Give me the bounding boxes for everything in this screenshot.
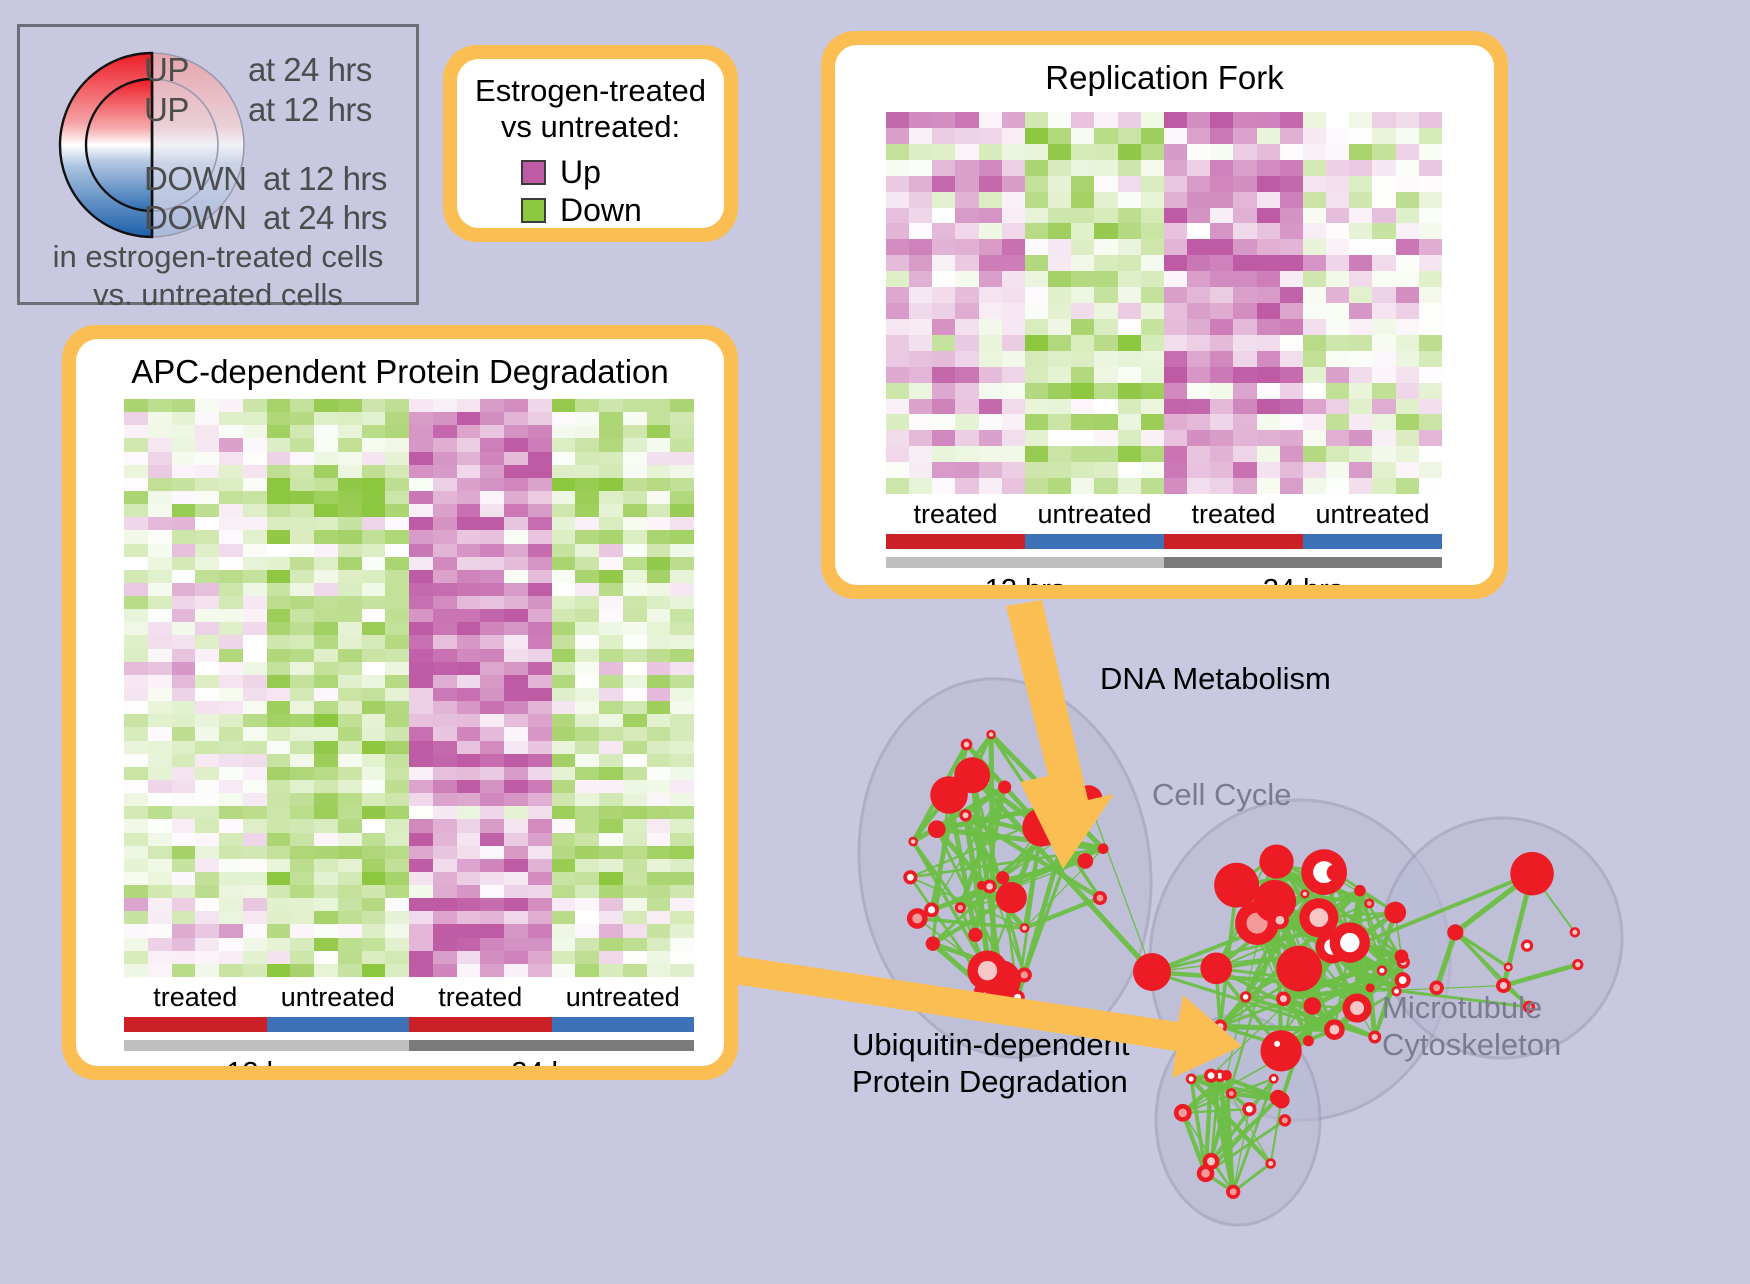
network-node — [1327, 864, 1344, 881]
heatmap-cell — [979, 160, 1002, 176]
heatmap-cell — [362, 504, 386, 517]
heatmap-cell — [1257, 223, 1280, 239]
heatmap-cell — [575, 622, 599, 635]
heatmap-cell — [623, 951, 647, 964]
heatmap-cell — [338, 714, 362, 727]
heatmap-cell — [1025, 430, 1048, 446]
heatmap-cell — [1233, 446, 1256, 462]
heatmap-cell — [1141, 192, 1164, 208]
heatmap-cell — [1187, 223, 1210, 239]
heatmap-cell — [290, 767, 314, 780]
heatmap-cell — [886, 255, 909, 271]
heatmap-cell — [575, 649, 599, 662]
heatmap-cell — [1210, 239, 1233, 255]
heatmap-cell — [290, 754, 314, 767]
heatmap-cell — [172, 649, 196, 662]
heatmap-cell — [1396, 351, 1419, 367]
heatmap-cell — [314, 688, 338, 701]
heatmap-cell — [575, 741, 599, 754]
heatmap-cell — [433, 438, 457, 451]
heatmap-cell — [955, 462, 978, 478]
heatmap-cell — [290, 557, 314, 570]
heatmap-cell — [195, 714, 219, 727]
heatmap-cell — [932, 399, 955, 415]
heatmap-cell — [599, 649, 623, 662]
heatmap-cell — [433, 898, 457, 911]
heatmap-cell — [1094, 367, 1117, 383]
heatmap-cell — [1048, 462, 1071, 478]
heatmap-cell — [172, 438, 196, 451]
heatmap-cell — [148, 806, 172, 819]
heatmap-cell — [480, 793, 504, 806]
heatmap-cell — [1210, 462, 1233, 478]
heatmap-cell — [528, 833, 552, 846]
network-node-core — [1229, 1091, 1234, 1096]
replication-fork-axis: treated untreated treated untreated 12 h — [886, 499, 1442, 585]
heatmap-cell — [409, 793, 433, 806]
heatmap-cell — [1071, 208, 1094, 224]
heatmap-cell — [909, 192, 932, 208]
heatmap-cell — [172, 491, 196, 504]
heatmap-cell — [338, 557, 362, 570]
heatmap-cell — [457, 675, 481, 688]
network-node-core — [1329, 1025, 1339, 1035]
heatmap-cell — [504, 478, 528, 491]
heatmap-cell — [1349, 319, 1372, 335]
heatmap-cell — [1396, 128, 1419, 144]
heatmap-cell — [670, 754, 694, 767]
heatmap-cell — [314, 596, 338, 609]
heatmap-cell — [1187, 399, 1210, 415]
heatmap-cell — [195, 833, 219, 846]
heatmap-cell — [267, 438, 291, 451]
heatmap-cell — [195, 530, 219, 543]
heatmap-cell — [409, 438, 433, 451]
heatmap-cell — [599, 478, 623, 491]
heatmap-cell — [480, 504, 504, 517]
heatmap-cell — [148, 662, 172, 675]
heatmap-cell — [362, 833, 386, 846]
heatmap-cell — [552, 688, 576, 701]
heatmap-cell — [219, 754, 243, 767]
heatmap-cell — [647, 741, 671, 754]
heatmap-cell — [172, 609, 196, 622]
heatmap-cell — [267, 544, 291, 557]
heatmap-cell — [409, 819, 433, 832]
heatmap-cell — [1326, 478, 1349, 494]
heatmap-cell — [338, 596, 362, 609]
heatmap-cell — [599, 530, 623, 543]
heatmap-cell — [909, 462, 932, 478]
heatmap-cell — [670, 833, 694, 846]
heatmap-cell — [433, 504, 457, 517]
heatmap-cell — [528, 911, 552, 924]
network-node-core — [1189, 1076, 1194, 1081]
heatmap-cell — [1257, 271, 1280, 287]
heatmap-cell — [623, 504, 647, 517]
heatmap-cell — [1396, 223, 1419, 239]
network-node-core — [1399, 976, 1407, 984]
heatmap-cell — [670, 701, 694, 714]
heatmap-cell — [1349, 446, 1372, 462]
heatmap-cell — [1141, 383, 1164, 399]
heatmap-cell — [433, 911, 457, 924]
heatmap-cell — [409, 911, 433, 924]
heatmap-cell — [409, 452, 433, 465]
network-graph — [800, 620, 1750, 1279]
heatmap-cell — [1002, 430, 1025, 446]
heatmap-cell — [1141, 319, 1164, 335]
heatmap-cell — [599, 544, 623, 557]
heatmap-cell — [267, 649, 291, 662]
heatmap-cell — [1002, 399, 1025, 415]
heatmap-cell — [504, 938, 528, 951]
heatmap-cell — [1141, 446, 1164, 462]
heatmap-cell — [1326, 271, 1349, 287]
heatmap-cell — [195, 767, 219, 780]
heatmap-cell — [1372, 112, 1395, 128]
heatmap-cell — [528, 530, 552, 543]
heatmap-cell — [172, 898, 196, 911]
heatmap-cell — [385, 530, 409, 543]
heatmap-cell — [267, 662, 291, 675]
heatmap-cell — [409, 530, 433, 543]
heatmap-cell — [909, 271, 932, 287]
network-node-core — [1268, 1161, 1273, 1166]
heatmap-cell — [385, 544, 409, 557]
heatmap-cell — [599, 964, 623, 977]
network-node-core — [1230, 1188, 1237, 1195]
heatmap-cell — [647, 924, 671, 937]
heatmap-cell — [955, 192, 978, 208]
heatmap-cell — [1164, 144, 1187, 160]
heatmap-cell — [314, 793, 338, 806]
heatmap-cell — [979, 208, 1002, 224]
heatmap-cell — [932, 478, 955, 494]
heatmap-cell — [195, 793, 219, 806]
heatmap-cell — [599, 399, 623, 412]
network-node — [928, 820, 946, 838]
heatmap-cell — [314, 530, 338, 543]
heatmap-cell — [1002, 255, 1025, 271]
heatmap-cell — [528, 872, 552, 885]
heatmap-cell — [1094, 287, 1117, 303]
heatmap-cell — [1025, 192, 1048, 208]
heatmap-cell — [552, 898, 576, 911]
heatmap-cell — [148, 675, 172, 688]
heatmap-cell — [1118, 176, 1141, 192]
colorwheel-term-down-12: DOWN — [144, 160, 246, 198]
network-node-core — [928, 906, 935, 913]
heatmap-cell — [480, 649, 504, 662]
heatmap-cell — [195, 596, 219, 609]
heatmap-cell — [528, 859, 552, 872]
heatmap-cell — [647, 793, 671, 806]
heatmap-cell — [124, 872, 148, 885]
heatmap-cell — [1349, 287, 1372, 303]
heatmap-cell — [1419, 144, 1442, 160]
heatmap-cell — [124, 688, 148, 701]
heatmap-cell — [385, 924, 409, 937]
heatmap-cell — [1303, 192, 1326, 208]
heatmap-cell — [647, 833, 671, 846]
heatmap-cell — [1349, 255, 1372, 271]
heatmap-cell — [124, 570, 148, 583]
heatmap-cell — [1164, 192, 1187, 208]
heatmap-cell — [1094, 430, 1117, 446]
heatmap-cell — [480, 938, 504, 951]
heatmap-cell — [1164, 319, 1187, 335]
heatmap-cell — [670, 412, 694, 425]
heatmap-cell — [243, 517, 267, 530]
heatmap-cell — [1303, 367, 1326, 383]
network-node — [1259, 844, 1293, 878]
heatmap-cell — [1326, 383, 1349, 399]
heatmap-cell — [338, 675, 362, 688]
heatmap-cell — [1118, 192, 1141, 208]
heatmap-cell — [552, 727, 576, 740]
heatmap-cell — [575, 859, 599, 872]
heatmap-cell — [647, 530, 671, 543]
heatmap-cell — [385, 622, 409, 635]
heatmap-cell — [599, 819, 623, 832]
heatmap-cell — [480, 819, 504, 832]
rf-group-bar-2 — [1164, 534, 1303, 549]
heatmap-cell — [932, 239, 955, 255]
heatmap-cell — [338, 741, 362, 754]
heatmap-cell — [1303, 462, 1326, 478]
heatmap-cell — [1164, 287, 1187, 303]
network-node-core — [1207, 1157, 1215, 1165]
heatmap-cell — [1233, 399, 1256, 415]
heatmap-cell — [409, 833, 433, 846]
heatmap-cell — [1396, 478, 1419, 494]
heatmap-cell — [267, 465, 291, 478]
heatmap-cell — [504, 544, 528, 557]
heatmap-cell — [1002, 383, 1025, 399]
heatmap-cell — [1187, 128, 1210, 144]
heatmap-cell — [1141, 239, 1164, 255]
colorwheel-term-up-24: UP — [144, 51, 189, 89]
heatmap-cell — [623, 583, 647, 596]
heatmap-cell — [599, 767, 623, 780]
heatmap-cell — [1396, 271, 1419, 287]
heatmap-cell — [1233, 462, 1256, 478]
heatmap-cell — [1233, 176, 1256, 192]
heatmap-cell — [314, 491, 338, 504]
heatmap-cell — [1187, 430, 1210, 446]
heatmap-cell — [886, 223, 909, 239]
heatmap-cell — [362, 872, 386, 885]
pathway-network-diagram: DNA Metabolism Cell Cycle Microtubule Cy… — [800, 620, 1750, 1279]
heatmap-cell — [290, 688, 314, 701]
heatmap-cell — [243, 688, 267, 701]
heatmap-cell — [243, 846, 267, 859]
heatmap-cell — [314, 714, 338, 727]
apc-time-bar — [124, 1040, 694, 1051]
heatmap-cell — [124, 767, 148, 780]
heatmap-cell — [172, 924, 196, 937]
heatmap-cell — [457, 793, 481, 806]
heatmap-cell — [1372, 319, 1395, 335]
heatmap-cell — [219, 399, 243, 412]
heatmap-cell — [409, 741, 433, 754]
heatmap-cell — [314, 846, 338, 859]
heatmap-cell — [1187, 176, 1210, 192]
heatmap-cell — [195, 872, 219, 885]
heatmap-cell — [1372, 271, 1395, 287]
heatmap-cell — [1280, 446, 1303, 462]
heatmap-cell — [979, 128, 1002, 144]
network-node-core — [986, 883, 993, 890]
heatmap-cell — [1372, 351, 1395, 367]
heatmap-cell — [979, 239, 1002, 255]
heatmap-cell — [1071, 383, 1094, 399]
heatmap-cell — [1303, 319, 1326, 335]
heatmap-cell — [1396, 176, 1419, 192]
heatmap-cell — [1048, 271, 1071, 287]
heatmap-cell — [1002, 462, 1025, 478]
heatmap-cell — [362, 793, 386, 806]
heatmap-cell — [932, 367, 955, 383]
heatmap-cell — [480, 622, 504, 635]
heatmap-cell — [267, 635, 291, 648]
heatmap-cell — [670, 819, 694, 832]
heatmap-cell — [433, 557, 457, 570]
heatmap-cell — [1141, 303, 1164, 319]
heatmap-cell — [433, 596, 457, 609]
heatmap-cell — [623, 885, 647, 898]
colorwheel-time-down-12: at 12 hrs — [263, 160, 387, 198]
heatmap-cell — [623, 859, 647, 872]
heatmap-cell — [1280, 399, 1303, 415]
heatmap-cell — [1419, 319, 1442, 335]
heatmap-cell — [172, 675, 196, 688]
heatmap-cell — [552, 767, 576, 780]
heatmap-cell — [1002, 335, 1025, 351]
heatmap-cell — [267, 951, 291, 964]
heatmap-cell — [1280, 383, 1303, 399]
heatmap-cell — [267, 885, 291, 898]
heatmap-cell — [1233, 287, 1256, 303]
heatmap-cell — [457, 951, 481, 964]
heatmap-cell — [433, 859, 457, 872]
apc-group-bar-0 — [124, 1017, 267, 1032]
heatmap-cell — [955, 239, 978, 255]
heatmap-cell — [409, 465, 433, 478]
heatmap-cell — [575, 675, 599, 688]
heatmap-cell — [599, 754, 623, 767]
network-node — [996, 871, 1009, 884]
heatmap-cell — [647, 465, 671, 478]
heatmap-cell — [623, 557, 647, 570]
heatmap-cell — [290, 649, 314, 662]
heatmap-cell — [1141, 128, 1164, 144]
heatmap-cell — [480, 583, 504, 596]
heatmap-cell — [195, 898, 219, 911]
heatmap-cell — [385, 504, 409, 517]
heatmap-cell — [599, 793, 623, 806]
heatmap-cell — [267, 399, 291, 412]
heatmap-cell — [148, 649, 172, 662]
heatmap-cell — [433, 583, 457, 596]
heatmap-cell — [338, 635, 362, 648]
heatmap-cell — [623, 819, 647, 832]
heatmap-cell — [1118, 255, 1141, 271]
heatmap-cell — [385, 951, 409, 964]
heatmap-cell — [670, 741, 694, 754]
heatmap-cell — [552, 701, 576, 714]
heatmap-cell — [148, 622, 172, 635]
heatmap-cell — [195, 727, 219, 740]
heatmap-cell — [1419, 478, 1442, 494]
heatmap-cell — [457, 727, 481, 740]
heatmap-cell — [1349, 271, 1372, 287]
heatmap-cell — [1141, 430, 1164, 446]
heatmap-cell — [195, 544, 219, 557]
heatmap-cell — [575, 938, 599, 951]
heatmap-cell — [1164, 303, 1187, 319]
heatmap-cell — [124, 583, 148, 596]
heatmap-cell — [1233, 144, 1256, 160]
heatmap-cell — [480, 885, 504, 898]
up-swatch-icon — [521, 160, 546, 185]
heatmap-cell — [338, 780, 362, 793]
heatmap-cell — [1071, 255, 1094, 271]
heatmap-cell — [1164, 462, 1187, 478]
heatmap-cell — [172, 465, 196, 478]
heatmap-cell — [886, 112, 909, 128]
heatmap-cell — [457, 557, 481, 570]
heatmap-cell — [409, 412, 433, 425]
heatmap-cell — [528, 438, 552, 451]
heatmap-cell — [623, 675, 647, 688]
heatmap-cell — [1349, 351, 1372, 367]
heatmap-cell — [955, 208, 978, 224]
heatmap-cell — [362, 701, 386, 714]
heatmap-cell — [932, 223, 955, 239]
heatmap-cell — [267, 622, 291, 635]
heatmap-cell — [1164, 383, 1187, 399]
heatmap-cell — [124, 517, 148, 530]
heatmap-cell — [267, 793, 291, 806]
heatmap-cell — [267, 491, 291, 504]
heatmap-cell — [1280, 128, 1303, 144]
heatmap-cell — [575, 767, 599, 780]
heatmap-cell — [1419, 446, 1442, 462]
heatmap-cell — [932, 383, 955, 399]
heatmap-cell — [362, 911, 386, 924]
heatmap-cell — [480, 714, 504, 727]
heatmap-cell — [148, 557, 172, 570]
cluster-label-ubiquitin-degradation: Ubiquitin-dependent Protein Degradation — [852, 1026, 1130, 1100]
heatmap-cell — [932, 271, 955, 287]
heatmap-cell — [243, 741, 267, 754]
heatmap-cell — [148, 504, 172, 517]
heatmap-cell — [338, 819, 362, 832]
heatmap-cell — [528, 846, 552, 859]
heatmap-cell — [932, 351, 955, 367]
heatmap-cell — [1187, 192, 1210, 208]
replication-fork-title: Replication Fork — [835, 59, 1494, 97]
heatmap-cell — [124, 478, 148, 491]
heatmap-cell — [290, 583, 314, 596]
heatmap-cell — [670, 557, 694, 570]
heatmap-cell — [433, 478, 457, 491]
heatmap-cell — [243, 544, 267, 557]
heatmap-cell — [195, 662, 219, 675]
heatmap-cell — [148, 412, 172, 425]
